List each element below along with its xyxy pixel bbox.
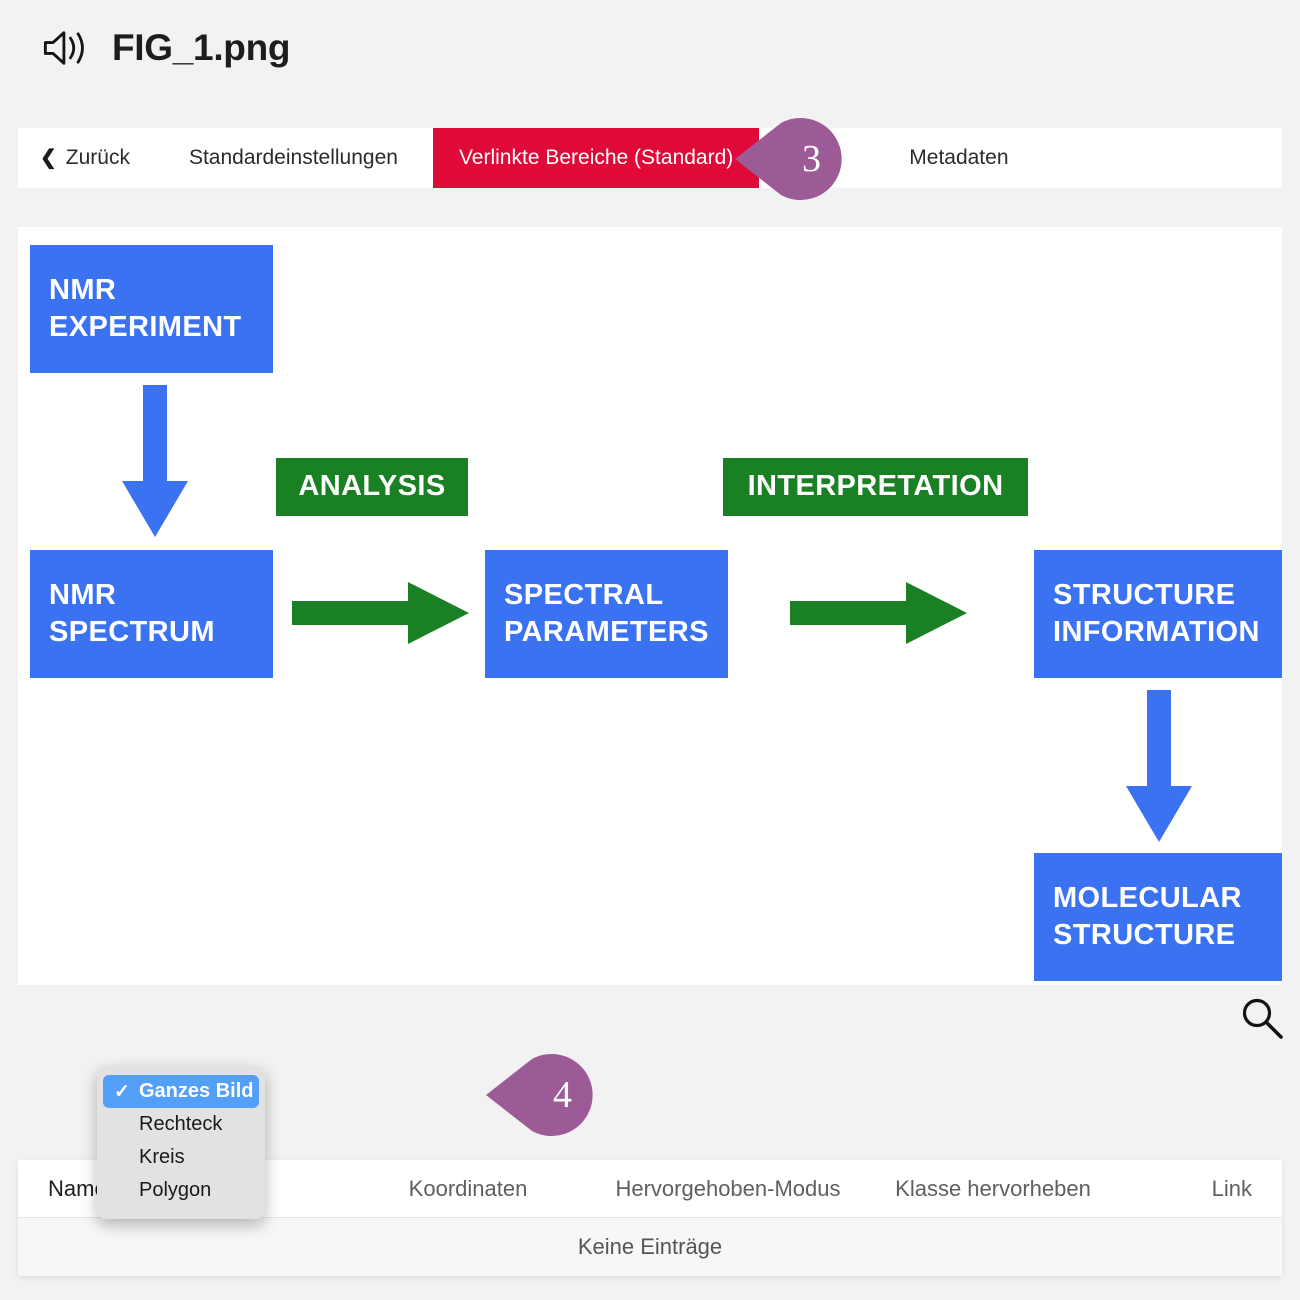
table-column-koordinaten[interactable]: Koordinaten — [338, 1176, 598, 1202]
tab-label: Metadaten — [909, 146, 1008, 170]
tab-label: Standardeinstellungen — [189, 146, 398, 170]
node-line-2: PARAMETERS — [504, 614, 709, 651]
figure-arrow-down-icon — [1126, 690, 1192, 842]
tab-bar: ❮ Zurück Standardeinstellungen Verlinkte… — [18, 128, 1282, 188]
table-column-hervorgehoben-modus[interactable]: Hervorgehoben-Modus — [598, 1176, 858, 1202]
tab-standardeinstellungen[interactable]: Standardeinstellungen — [154, 128, 433, 188]
tab-label: Verlinkte Bereiche (Standard) — [459, 146, 733, 170]
chevron-left-icon: ❮ — [40, 148, 57, 168]
figure-node-spectral-parameters: SPECTRAL PARAMETERS — [485, 550, 728, 678]
figure-node-analysis: ANALYSIS — [276, 458, 468, 516]
table-empty-text: Keine Einträge — [578, 1234, 722, 1260]
node-line-2: EXPERIMENT — [49, 309, 242, 346]
table-column-klasse-hervorheben[interactable]: Klasse hervorheben — [858, 1176, 1128, 1202]
page-title: FIG_1.png — [112, 27, 290, 69]
figure-node-interpretation: INTERPRETATION — [723, 458, 1028, 516]
node-line-2: STRUCTURE — [1053, 917, 1235, 954]
shape-option-label: Rechteck — [139, 1113, 222, 1136]
check-icon: ✓ — [114, 1080, 130, 1103]
shape-option-label: Ganzes Bild — [139, 1080, 253, 1103]
node-line-1: NMR — [49, 272, 116, 309]
shape-option-kreis[interactable]: Kreis — [103, 1141, 259, 1174]
shape-option-label: Kreis — [139, 1146, 185, 1169]
node-line-1: MOLECULAR — [1053, 880, 1242, 917]
shape-option-polygon[interactable]: Polygon — [103, 1174, 259, 1207]
tab-verlinkte-bereiche[interactable]: Verlinkte Bereiche (Standard) — [433, 128, 759, 188]
node-line-1: STRUCTURE — [1053, 577, 1235, 614]
figure-arrow-down-icon — [122, 385, 188, 537]
figure-node-structure-information: STRUCTURE INFORMATION — [1034, 550, 1282, 678]
tab-metadaten[interactable]: Metadaten — [759, 128, 1008, 188]
figure-arrow-right-icon — [292, 582, 469, 644]
figure-node-nmr-experiment: NMR EXPERIMENT — [30, 245, 273, 373]
shape-option-label: Polygon — [139, 1179, 211, 1202]
node-line-1: NMR — [49, 577, 116, 614]
page-header: FIG_1.png — [0, 0, 1300, 95]
figure-node-molecular-structure: MOLECULAR STRUCTURE — [1034, 853, 1282, 981]
shape-option-rechteck[interactable]: Rechteck — [103, 1108, 259, 1141]
figure-node-nmr-spectrum: NMR SPECTRUM — [30, 550, 273, 678]
node-line-1: ANALYSIS — [298, 468, 445, 505]
back-button[interactable]: ❮ Zurück — [18, 128, 154, 188]
figure-arrow-right-icon — [790, 582, 967, 644]
shape-option-ganzes-bild[interactable]: ✓ Ganzes Bild — [103, 1075, 259, 1108]
node-line-1: SPECTRAL — [504, 577, 664, 614]
table-column-link[interactable]: Link — [1128, 1176, 1282, 1202]
node-line-1: INTERPRETATION — [748, 468, 1004, 505]
figure-image-panel[interactable]: NMR EXPERIMENT NMR SPECTRUM ANALYSIS SPE… — [18, 227, 1282, 985]
speaker-sound-icon — [38, 26, 92, 70]
table-empty-row: Keine Einträge — [18, 1218, 1282, 1276]
magnifier-icon[interactable] — [1238, 995, 1286, 1043]
shape-dropdown-menu[interactable]: ✓ Ganzes Bild Rechteck Kreis Polygon — [97, 1066, 265, 1219]
back-button-label: Zurück — [66, 146, 130, 170]
node-line-2: INFORMATION — [1053, 614, 1260, 651]
page-root: FIG_1.png ❮ Zurück Standardeinstellungen… — [0, 0, 1300, 1300]
node-line-2: SPECTRUM — [49, 614, 215, 651]
